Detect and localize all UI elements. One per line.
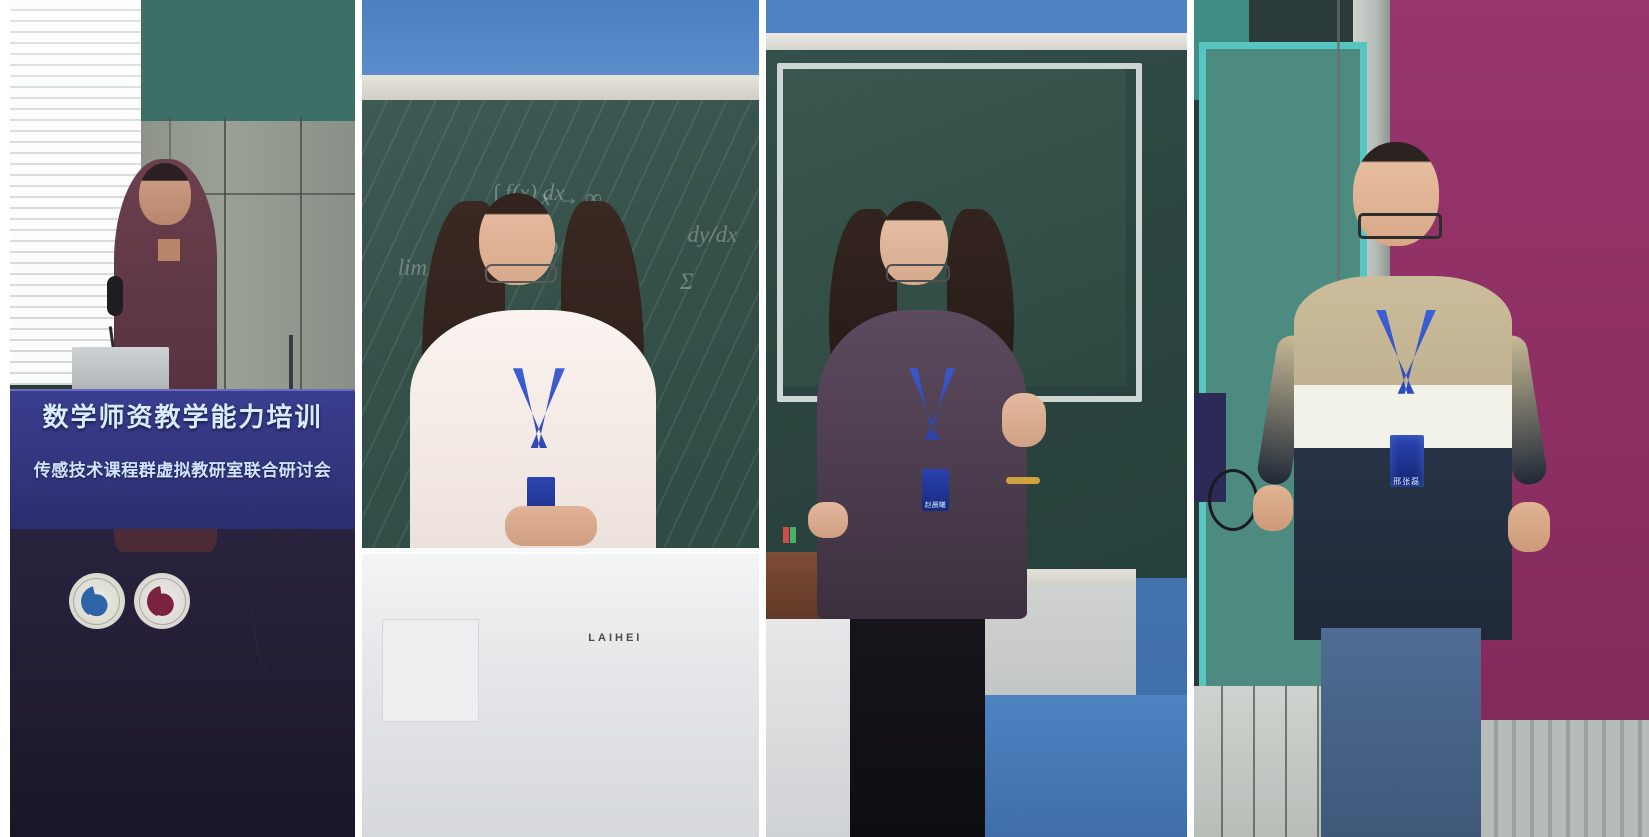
wall-slat [1317,686,1319,837]
eyeglasses-icon [485,264,557,283]
green-board [141,0,355,129]
chalk-note: dy/dx [688,222,738,248]
person-skirt [850,586,985,837]
photo-panel-2[interactable]: ∫ f(x) dx x → ∞ A B C D lim dy/dx Σ LAIH… [362,0,759,837]
banner-title-line1: 数学师资教学能力培训 [10,397,355,434]
university-logo-blue-icon [69,573,125,629]
person-hands [505,506,597,546]
marker-pen-red-icon [783,527,789,543]
person-hand-right [1508,502,1550,552]
bracelet [1006,477,1040,484]
person-hand-right [1002,393,1046,447]
eyeglasses-icon [886,264,950,282]
person-head [139,163,191,225]
person-hand-left [808,502,848,538]
marker-pen-green-icon [790,527,796,543]
person-neck [158,239,180,261]
chalk-note: Σ [680,269,694,295]
podium-brand-label: LAIHEI [588,632,642,644]
conference-badge-name: 赵晨曦 [922,502,949,510]
photo-panel-3[interactable]: 赵晨曦 [766,0,1187,837]
person-speaker [817,310,1028,620]
cable [252,527,326,691]
microphone-icon [107,276,123,316]
photo-collage: 数学师资教学能力培训 传感技术课程群虚拟教研室联合研讨会 ∫ f(x) dx x… [0,0,1649,837]
wall-slat [1253,686,1255,837]
eyeglasses-icon [1358,213,1442,239]
person-hand-left [1253,485,1293,531]
window-sky [362,0,759,84]
banner-title-line2: 传感技术课程群虚拟教研室联合研讨会 [10,456,355,481]
conference-badge-name: 邢张磊 [1390,477,1424,486]
photo-panel-4[interactable]: 邢张磊 [1194,0,1649,837]
cable [1208,469,1258,531]
chalk-note: lim [398,255,427,281]
person-jeans [1321,628,1480,837]
wall-slat [1285,686,1287,837]
podium-panel [382,619,479,721]
photo-panel-1[interactable]: 数学师资教学能力培训 传感技术课程群虚拟教研室联合研讨会 [10,0,355,837]
wall-slat [1221,686,1223,837]
